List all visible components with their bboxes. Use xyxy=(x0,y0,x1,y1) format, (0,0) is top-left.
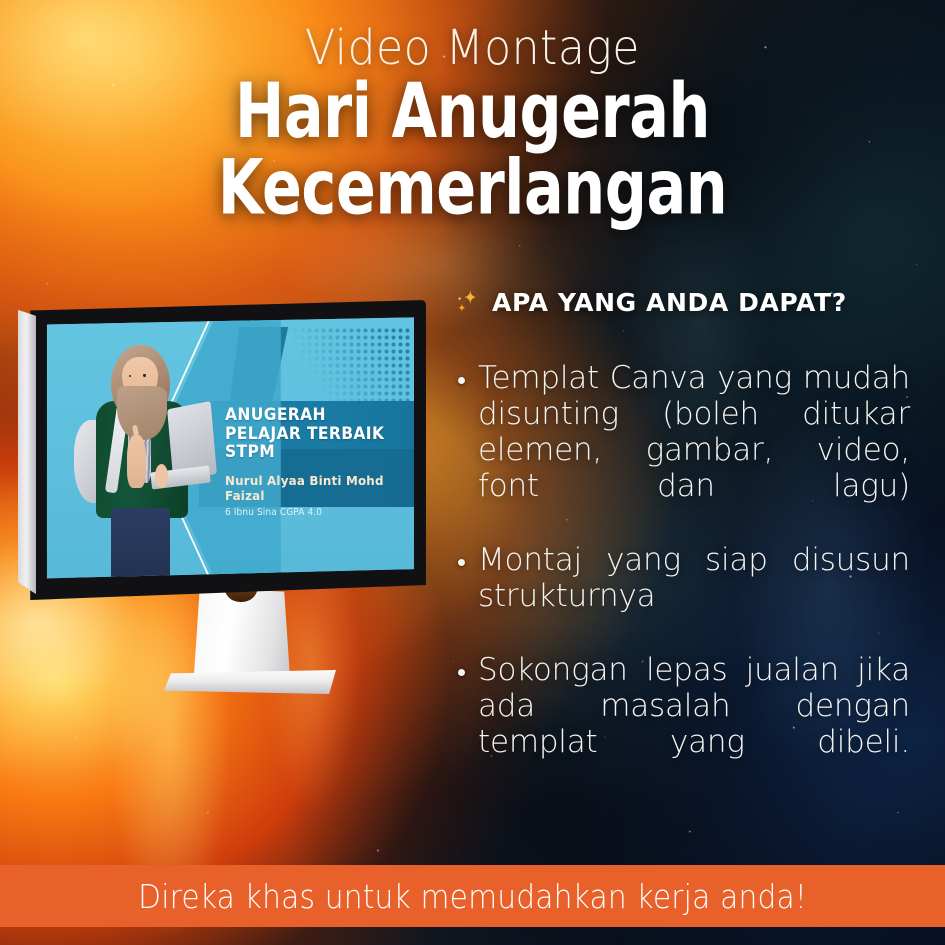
slide-student-detail: 6 Ibnu Sina CGPA 4.0 xyxy=(225,507,397,518)
hijab-drape xyxy=(117,386,167,440)
page-title: Hari Anugerah Kecemerlangan xyxy=(38,74,907,228)
slide-text-block: ANUGERAH PELAJAR TERBAIK STPM Nurul Alya… xyxy=(225,406,406,517)
trousers-shape xyxy=(111,508,170,581)
list-item: Templat Canva yang mudah disunting (bole… xyxy=(478,361,910,541)
poster-header: Video Montage Hari Anugerah Kecemerlanga… xyxy=(0,24,945,217)
benefit-text: Sokongan lepas jualan jika ada masalah d… xyxy=(478,653,910,797)
eye-right xyxy=(143,374,145,376)
arm-shape xyxy=(127,435,146,489)
benefits-heading: APA YANG ANDA DAPAT? xyxy=(452,288,910,317)
slide-artwork: ANUGERAH PELAJAR TERBAIK STPM Nurul Alya… xyxy=(44,316,414,581)
benefits-heading-label: APA YANG ANDA DAPAT? xyxy=(492,288,847,317)
benefits-list: Templat Canva yang mudah disunting (bole… xyxy=(452,361,910,796)
list-item: Montaj yang siap disusun strukturnya xyxy=(478,543,910,651)
monitor-screen: ANUGERAH PELAJAR TERBAIK STPM Nurul Alya… xyxy=(44,316,414,581)
list-item: Sokongan lepas jualan jika ada masalah d… xyxy=(478,653,910,797)
benefit-text: Templat Canva yang mudah disunting (bole… xyxy=(478,361,910,541)
sparkles-icon xyxy=(452,287,482,317)
kicker-text: Video Montage xyxy=(38,24,907,72)
slide-student-name: Nurul Alyaa Binti Mohd Faizal xyxy=(225,473,397,503)
desktop-monitor: ANUGERAH PELAJAR TERBAIK STPM Nurul Alya… xyxy=(18,300,448,720)
slide-title: ANUGERAH PELAJAR TERBAIK STPM xyxy=(225,406,395,461)
footer-tagline: Direka khas untuk memudahkan kerja anda! xyxy=(138,880,807,913)
monitor-side-edge xyxy=(18,304,36,600)
benefit-text: Montaj yang siap disusun strukturnya xyxy=(478,543,910,651)
footer-banner: Direka khas untuk memudahkan kerja anda! xyxy=(0,865,945,927)
poster-canvas: Video Montage Hari Anugerah Kecemerlanga… xyxy=(0,0,945,945)
benefits-panel: APA YANG ANDA DAPAT? Templat Canva yang … xyxy=(452,288,910,798)
monitor-stand-base xyxy=(164,670,336,694)
student-photo xyxy=(66,337,214,581)
